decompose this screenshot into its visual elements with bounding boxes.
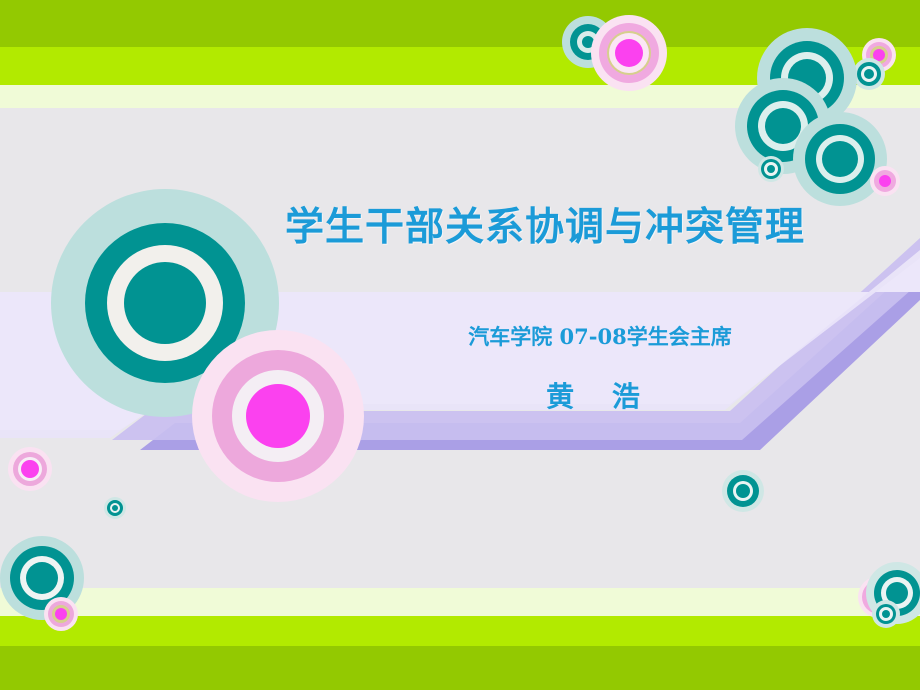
- decor-ring-teal-bottomleft-core: [26, 562, 58, 594]
- decor-ring-pink-hero-core: [246, 384, 310, 448]
- decor-ring-teal-tiny-topright-core: [864, 69, 874, 79]
- presentation-slide: 学生干部关系协调与冲突管理 汽车学院 07-08学生会主席 黄 浩: [0, 0, 920, 690]
- decor-ring-teal-cluster-2-core: [765, 108, 801, 144]
- decor-ring-pink-tiny-rightedge-core: [879, 175, 891, 187]
- decor-ring-teal-hero-core: [124, 262, 206, 344]
- decor-ring-pink-large-top-core: [615, 39, 643, 67]
- decor-ring-pink-bottomleft-core: [21, 460, 39, 478]
- presenter-name: 黄 浩: [360, 375, 840, 415]
- decor-ring-teal-tiny-corner-core: [882, 610, 890, 618]
- slide-subtitle: 汽车学院 07-08学生会主席: [360, 321, 840, 351]
- decor-ring-teal-tiny-bottomleft-core: [112, 505, 118, 511]
- decor-ring-teal-tiny-below-cluster-core: [767, 165, 775, 173]
- slide-title: 学生干部关系协调与冲突管理: [285, 206, 905, 249]
- decor-ring-teal-cluster-3-core: [822, 141, 858, 177]
- decor-ring-pink-onband-bottomleft-core: [55, 608, 67, 620]
- decor-ring-teal-bottomright-core: [736, 484, 750, 498]
